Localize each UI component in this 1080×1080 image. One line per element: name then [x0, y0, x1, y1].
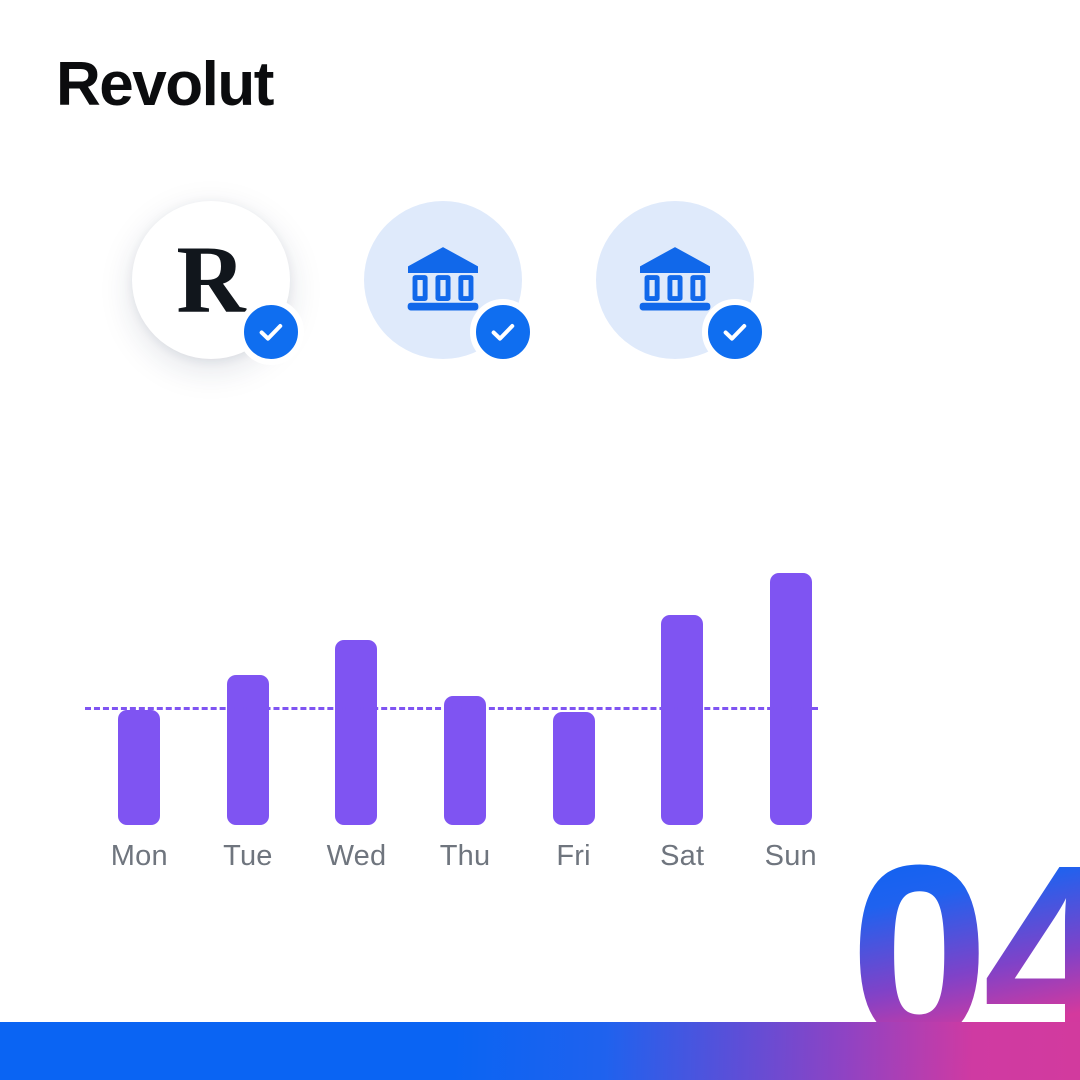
account-badge-bank-2[interactable]: [596, 201, 754, 359]
bar-fri[interactable]: [553, 712, 595, 825]
account-badge-bank-1[interactable]: [364, 201, 522, 359]
check-icon: [256, 317, 286, 347]
bar-thu[interactable]: [444, 696, 486, 825]
x-label-thu: Thu: [411, 840, 520, 873]
chart-reference-line: [85, 707, 818, 710]
bar-sat[interactable]: [661, 615, 703, 825]
chart-bars: [85, 540, 845, 825]
bar-slot: [411, 540, 520, 825]
verified-check-badge: [470, 299, 536, 365]
bar-slot: [302, 540, 411, 825]
revolut-wordmark: Revolut: [56, 54, 273, 116]
bar-slot: [628, 540, 737, 825]
account-badge-row: R: [132, 201, 754, 359]
check-icon: [720, 317, 750, 347]
x-label-fri: Fri: [519, 840, 628, 873]
x-label-sat: Sat: [628, 840, 737, 873]
footer-gradient-bar: [0, 1022, 1080, 1080]
weekly-bar-chart: MonTueWedThuFriSatSun: [85, 540, 845, 885]
slide-canvas: Revolut R: [0, 0, 1080, 1080]
verified-check-badge: [702, 299, 768, 365]
verified-check-badge: [238, 299, 304, 365]
check-icon: [488, 317, 518, 347]
bank-icon: [401, 238, 485, 322]
bar-slot: [519, 540, 628, 825]
bar-tue[interactable]: [227, 675, 269, 825]
x-label-sun: Sun: [736, 840, 845, 873]
bar-slot: [85, 540, 194, 825]
revolut-r-icon: R: [176, 232, 245, 328]
bar-mon[interactable]: [118, 710, 160, 825]
chart-x-axis-labels: MonTueWedThuFriSatSun: [85, 840, 845, 873]
x-label-tue: Tue: [194, 840, 303, 873]
bar-slot: [736, 540, 845, 825]
chart-plot-area: [85, 540, 845, 825]
x-label-mon: Mon: [85, 840, 194, 873]
x-label-wed: Wed: [302, 840, 411, 873]
account-badge-revolut[interactable]: R: [132, 201, 290, 359]
bank-icon: [633, 238, 717, 322]
bar-slot: [194, 540, 303, 825]
bar-wed[interactable]: [335, 640, 377, 825]
bar-sun[interactable]: [770, 573, 812, 825]
